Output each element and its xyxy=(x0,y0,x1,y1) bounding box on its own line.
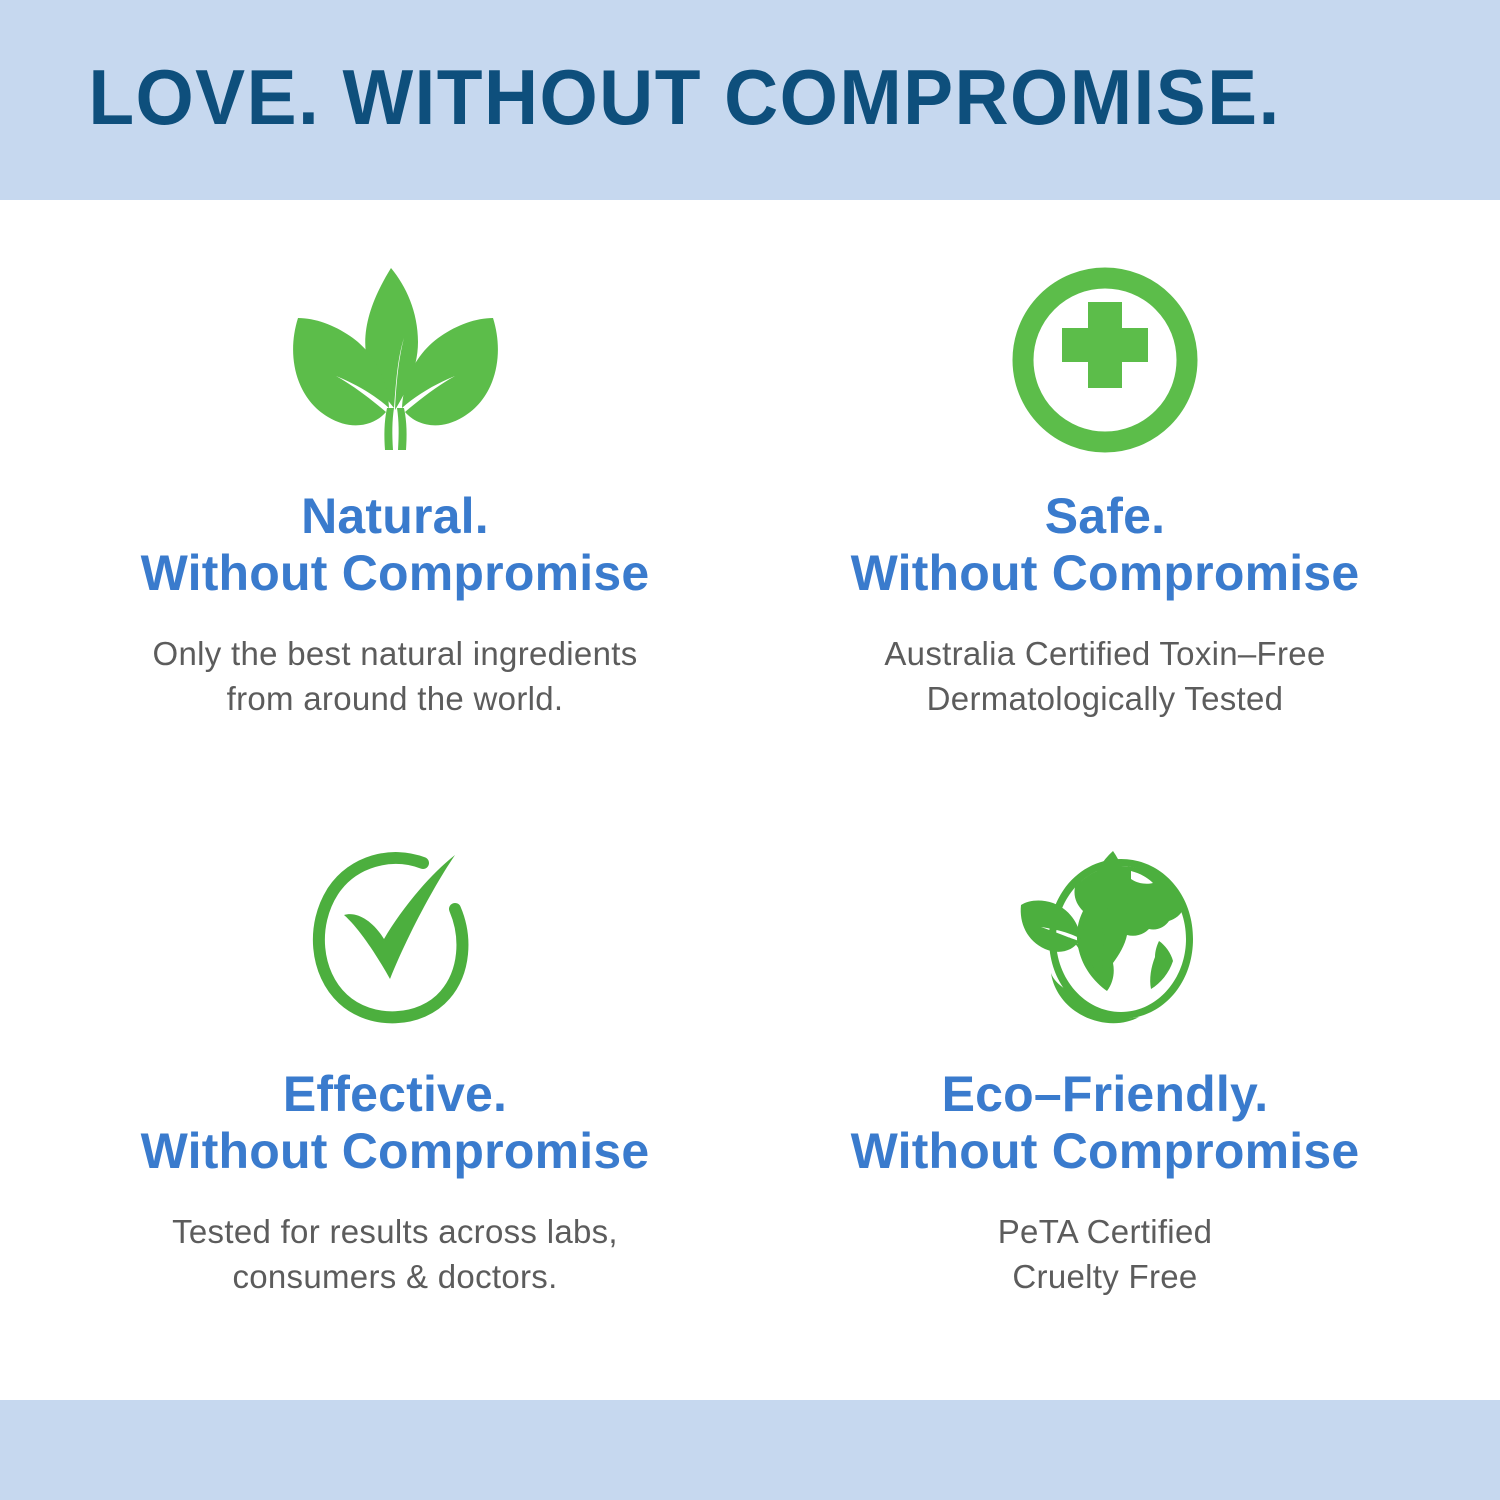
feature-description-line2: Dermatologically Tested xyxy=(884,677,1325,722)
feature-heading-line1: Eco–Friendly. xyxy=(851,1066,1360,1123)
feature-card-eco-friendly: Eco–Friendly. Without Compromise PeTA Ce… xyxy=(750,800,1460,1400)
feature-heading: Natural. Without Compromise xyxy=(141,488,650,602)
feature-description-line1: Tested for results across labs, xyxy=(172,1210,618,1255)
feature-description-line2: Cruelty Free xyxy=(998,1255,1213,1300)
feature-heading-line1: Safe. xyxy=(851,488,1360,545)
feature-description: Only the best natural ingredients from a… xyxy=(152,632,637,721)
footer-banner xyxy=(0,1400,1500,1500)
feature-heading-line2: Without Compromise xyxy=(141,1123,650,1180)
feature-heading: Safe. Without Compromise xyxy=(851,488,1360,602)
header-banner: LOVE. WITHOUT COMPROMISE. xyxy=(0,0,1500,200)
feature-heading: Effective. Without Compromise xyxy=(141,1066,650,1180)
feature-heading-line2: Without Compromise xyxy=(851,1123,1360,1180)
page-title: LOVE. WITHOUT COMPROMISE. xyxy=(0,52,1281,149)
feature-description-line1: Only the best natural ingredients xyxy=(152,632,637,677)
feature-heading-line1: Natural. xyxy=(141,488,650,545)
leaves-icon xyxy=(288,260,503,460)
feature-description-line2: consumers & doctors. xyxy=(172,1255,618,1300)
feature-description-line2: from around the world. xyxy=(152,677,637,722)
feature-heading-line2: Without Compromise xyxy=(851,545,1360,602)
feature-heading: Eco–Friendly. Without Compromise xyxy=(851,1066,1360,1180)
feature-description: Australia Certified Toxin–Free Dermatolo… xyxy=(884,632,1325,721)
feature-card-natural: Natural. Without Compromise Only the bes… xyxy=(40,200,750,800)
feature-description: PeTA Certified Cruelty Free xyxy=(998,1210,1213,1299)
feature-grid: Natural. Without Compromise Only the bes… xyxy=(0,200,1500,1400)
feature-description-line1: Australia Certified Toxin–Free xyxy=(884,632,1325,677)
medical-cross-circle-icon xyxy=(1005,260,1205,460)
feature-heading-line1: Effective. xyxy=(141,1066,650,1123)
feature-description: Tested for results across labs, consumer… xyxy=(172,1210,618,1299)
feature-card-effective: Effective. Without Compromise Tested for… xyxy=(40,800,750,1400)
feature-description-line1: PeTA Certified xyxy=(998,1210,1213,1255)
checkmark-circle-icon xyxy=(295,838,495,1038)
promo-page: LOVE. WITHOUT COMPROMISE. xyxy=(0,0,1500,1500)
feature-heading-line2: Without Compromise xyxy=(141,545,650,602)
feature-card-safe: Safe. Without Compromise Australia Certi… xyxy=(750,200,1460,800)
eco-globe-leaf-icon xyxy=(1003,838,1208,1038)
